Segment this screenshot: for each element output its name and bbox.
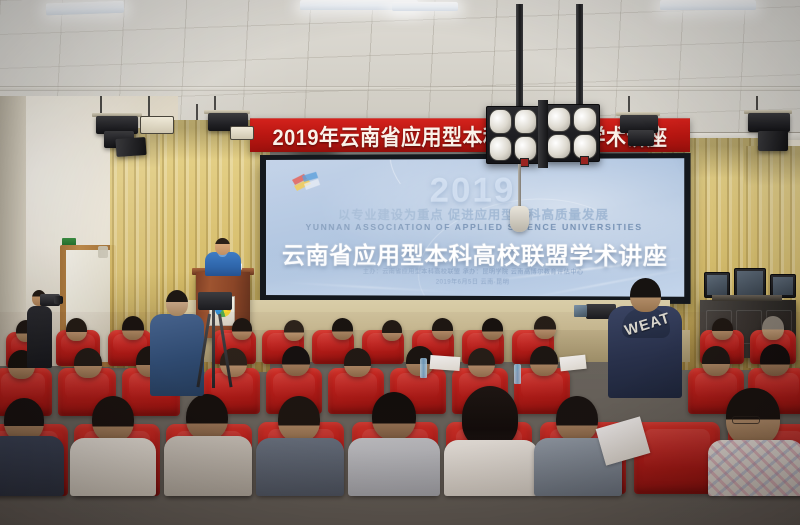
stage-par-light [489,109,512,134]
audience-head [278,396,320,442]
fluorescent-ceiling-panel [392,2,458,11]
stage-par-light [748,113,790,132]
lighting-truss-rod [196,104,198,120]
stage-par-light [547,134,571,159]
audience-head [332,318,353,340]
audience-head [284,320,304,341]
slide-organizers: 主办：云南省应用型本科高校联盟 承办：昆明学院 云南高博尔教育评估中心 [266,266,684,276]
audience-head [66,318,87,341]
audience-head [482,318,503,340]
audience-head [462,386,518,448]
audience-head [760,344,790,376]
handout-paper[interactable] [559,355,586,372]
photographer-body [27,306,52,368]
audience-head [702,346,730,376]
stage-par-light [547,107,571,132]
audience-head [382,320,402,341]
eyeglasses [732,416,760,424]
audience-head [712,318,733,340]
auditorium-photo: 2019年云南省应用型本科高校联盟学术讲座 2019 以专业建设为重点 促进应用… [0,0,800,525]
ceiling-speaker [758,131,788,151]
stage-par-light [573,107,597,132]
audience-shoulders [70,438,156,496]
photographer-with-dslr [24,288,54,368]
audience-head [74,348,102,378]
stage-par-light [489,136,512,161]
audience-shoulders [444,440,538,496]
audience-shoulders [0,436,64,496]
audience-head [372,392,416,440]
hanging-microphone-cable [518,164,521,210]
videographer-head [166,290,188,316]
projection-screen: 2019 以专业建设为重点 促进应用型本科高质量发展 YUNNAN ASSOCI… [266,158,684,297]
audience-head [762,316,784,340]
audience-head [282,346,310,376]
av-monitor[interactable] [734,268,766,298]
truss-center-bracket [538,100,548,168]
fresnel-stage-light [230,126,254,140]
slide-tagline: 以专业建设为重点 促进应用型本科高质量发展 [266,205,684,223]
wall-switch-plate[interactable] [98,246,108,258]
handout-paper[interactable] [430,355,461,371]
stage-par-light-cluster [544,104,600,162]
audience-head [534,316,556,339]
audience-head [186,394,228,440]
camera-flip-screen [574,305,587,317]
audience-shoulders [164,436,252,496]
lighting-truss-rod [148,96,150,116]
speaker-head [215,238,230,255]
stage-par-light [514,109,537,134]
video-camera-on-tripod [196,292,232,387]
dslr-camera [40,294,60,306]
lighting-truss-pole [516,4,523,112]
light-indicator [520,158,529,167]
stage-par-light-cluster [486,106,540,164]
ceiling-beam-far [0,86,800,91]
tripod-leg [218,314,233,388]
audience-head [432,318,453,340]
audience-head [556,396,598,442]
lighting-truss-pole [576,4,583,106]
fluorescent-ceiling-panel [660,0,756,10]
audience-head [92,396,134,442]
slide-english-line: YUNNAN ASSOCIATION OF APPLIED SCIENCE UN… [266,222,684,232]
light-indicator [580,156,589,165]
video-camera [198,292,232,310]
audience-shoulders [256,438,344,496]
audience-head [530,346,558,376]
av-mixer[interactable] [712,295,782,301]
hoodie-camera-operator: WEAT [608,278,682,398]
audience-shoulders [708,440,800,496]
audience-head [344,348,371,377]
audience-head [232,318,252,340]
water-bottle[interactable] [514,364,521,384]
hoodie-operator-head [630,278,661,312]
stage-par-light [628,130,654,146]
audience-head [122,316,144,340]
event-banner-text: 2019年云南省应用型本科高校联盟学术讲座 [273,119,668,151]
ceiling-speaker [115,137,146,157]
tripod-leg [212,310,215,388]
tripod-leg [196,314,211,388]
water-bottle[interactable] [420,358,427,378]
audience-shoulders [348,438,440,496]
fresnel-stage-light [140,116,174,134]
audience-head [468,348,495,377]
hanging-microphone [510,206,529,232]
